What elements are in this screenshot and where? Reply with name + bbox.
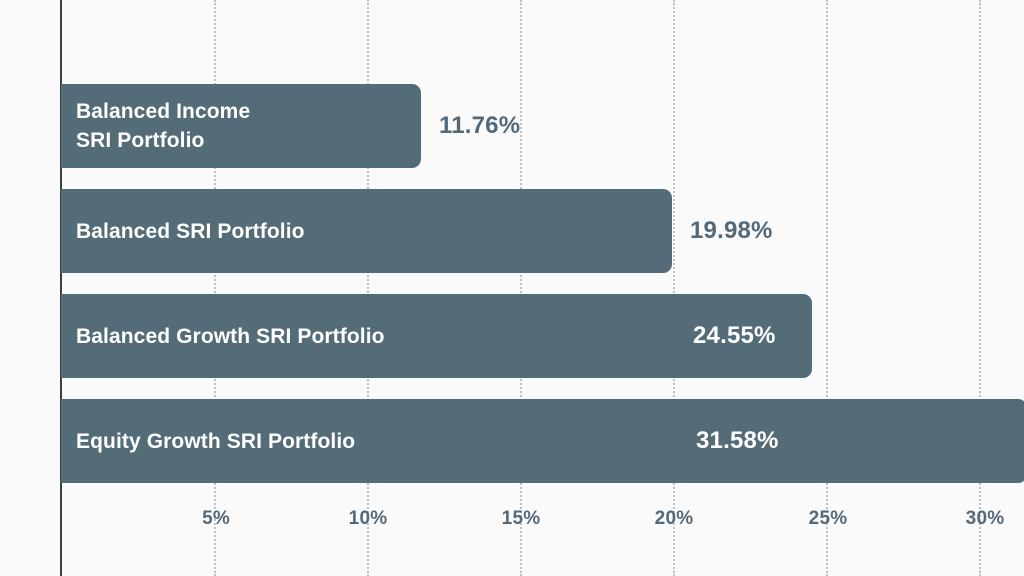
bar-chart: Balanced Income SRI Portfolio 11.76% Bal… <box>0 0 1024 576</box>
bar-row[interactable]: Equity Growth SRI Portfolio 31.58% <box>61 399 1024 483</box>
bar-value-label: 11.76% <box>439 84 520 168</box>
bar-row[interactable]: Balanced SRI Portfolio 19.98% <box>61 189 1024 273</box>
x-tick-label-5: 5% <box>202 508 230 530</box>
bar-value-label: 24.55% <box>693 294 776 378</box>
bar-balanced-income-sri-portfolio[interactable] <box>61 84 421 168</box>
bar-value-label: 19.98% <box>690 189 773 273</box>
x-tick-label-20: 20% <box>655 508 694 530</box>
bars-layer: Balanced Income SRI Portfolio 11.76% Bal… <box>0 0 1024 576</box>
plot-area: Balanced Income SRI Portfolio 11.76% Bal… <box>0 0 1024 576</box>
x-tick-label-30: 30% <box>966 508 1005 530</box>
bar-value-label: 31.58% <box>696 399 779 483</box>
x-tick-label-10: 10% <box>349 508 388 530</box>
x-tick-label-25: 25% <box>809 508 848 530</box>
bar-row[interactable]: Balanced Income SRI Portfolio 11.76% <box>61 84 1024 168</box>
x-tick-label-15: 15% <box>502 508 541 530</box>
x-axis-tick-labels: 5% 10% 15% 20% 25% 30% <box>0 508 1024 538</box>
bar-equity-growth-sri-portfolio[interactable] <box>61 399 1024 483</box>
bar-row[interactable]: Balanced Growth SRI Portfolio 24.55% <box>61 294 1024 378</box>
bar-balanced-sri-portfolio[interactable] <box>61 189 672 273</box>
